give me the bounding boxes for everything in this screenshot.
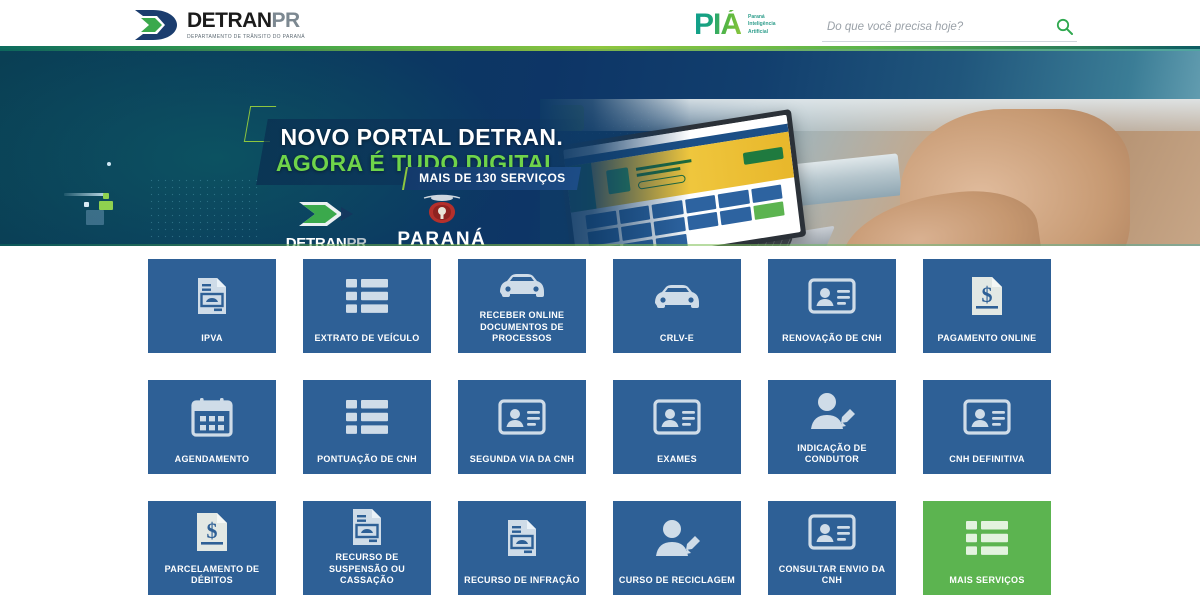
services-grid: IPVA EXTRATO DE VEÍCULO RECEBER ONLINE D… xyxy=(148,259,1052,595)
id-card-icon xyxy=(653,399,701,435)
svg-text:$: $ xyxy=(982,282,993,307)
calendar-icon xyxy=(148,380,276,454)
banner-top-accent-line xyxy=(0,49,1200,51)
service-tile[interactable]: CONSULTAR ENVIO DA CNH xyxy=(768,501,896,595)
service-tile-label: PARCELAMENTO DE DÉBITOS xyxy=(148,564,276,587)
service-tile[interactable]: RECURSO DE INFRAÇÃO xyxy=(458,501,586,595)
banner-parana-logo: PARANÁ GOVERNO DO ESTADO xyxy=(397,194,486,246)
person-edit-icon xyxy=(613,501,741,575)
calendar-icon xyxy=(191,397,233,437)
site-header: DETRANPR DEPARTAMENTO DE TRÂNSITO DO PAR… xyxy=(0,0,1200,49)
service-tile[interactable]: EXTRATO DE VEÍCULO xyxy=(303,259,431,353)
list-icon xyxy=(303,259,431,333)
banner-decor-box xyxy=(86,210,104,225)
search-bar[interactable] xyxy=(822,16,1077,42)
banner-decor-dot xyxy=(107,162,111,166)
list-icon xyxy=(345,277,389,315)
service-tile-label: CRLV-E xyxy=(656,333,698,344)
person-edit-icon xyxy=(653,518,701,558)
list-icon xyxy=(923,501,1051,575)
banner-photo xyxy=(540,99,1200,246)
banner-decor-green-dot xyxy=(103,193,109,199)
service-tile-label: PONTUAÇÃO DE CNH xyxy=(313,454,421,465)
id-card-icon xyxy=(808,514,856,550)
id-card-icon xyxy=(808,278,856,314)
service-tile[interactable]: $ PARCELAMENTO DE DÉBITOS xyxy=(148,501,276,595)
document-vehicle-icon xyxy=(303,501,431,552)
list-icon xyxy=(965,519,1009,557)
service-tile-label: RENOVAÇÃO DE CNH xyxy=(778,333,886,344)
service-tile[interactable]: $ PAGAMENTO ONLINE xyxy=(923,259,1051,353)
logo-tagline: DEPARTAMENTO DE TRÂNSITO DO PARANÁ xyxy=(187,34,305,40)
car-icon xyxy=(458,259,586,310)
service-tile-label: RECEBER ONLINE DOCUMENTOS DE PROCESSOS xyxy=(458,310,586,344)
pia-subtitle-line2: Inteligência xyxy=(748,21,776,29)
pia-wordmark: PIÁ xyxy=(694,10,741,40)
banner-dot-grid-left xyxy=(148,177,258,242)
service-tile-label: SEGUNDA VIA DA CNH xyxy=(466,454,578,465)
id-card-icon xyxy=(963,399,1011,435)
service-tile-label: RECURSO DE SUSPENSÃO OU CASSAÇÃO xyxy=(303,552,431,586)
service-tile-label: MAIS SERVIÇOS xyxy=(945,575,1028,586)
pia-subtitle-line1: Paraná xyxy=(748,14,776,22)
banner-decor-green-block xyxy=(99,201,113,210)
service-tile[interactable]: RENOVAÇÃO DE CNH xyxy=(768,259,896,353)
search-input[interactable] xyxy=(822,21,1037,37)
service-tile[interactable]: INDICAÇÃO DE CONDUTOR xyxy=(768,380,896,474)
services-section: IPVA EXTRATO DE VEÍCULO RECEBER ONLINE D… xyxy=(0,246,1200,595)
person-edit-icon xyxy=(768,380,896,443)
id-card-icon xyxy=(768,501,896,564)
service-tile-label: INDICAÇÃO DE CONDUTOR xyxy=(768,443,896,466)
service-tile[interactable]: RECURSO DE SUSPENSÃO OU CASSAÇÃO xyxy=(303,501,431,595)
service-tile[interactable]: CRLV-E xyxy=(613,259,741,353)
hero-banner: NOVO PORTAL DETRAN. AGORA É TUDO DIGITAL… xyxy=(0,49,1200,246)
svg-text:$: $ xyxy=(207,518,218,543)
banner-headline-line1: NOVO PORTAL DETRAN. xyxy=(280,125,570,151)
service-tile-label: PAGAMENTO ONLINE xyxy=(934,333,1041,344)
service-tile[interactable]: SEGUNDA VIA DA CNH xyxy=(458,380,586,474)
id-card-icon xyxy=(498,399,546,435)
document-vehicle-icon xyxy=(501,517,543,559)
dollar-document-icon: $ xyxy=(193,511,231,553)
pia-subtitle: Paraná Inteligência Artificial xyxy=(748,14,776,37)
service-tile-label: EXAMES xyxy=(653,454,701,465)
service-tile-label: CONSULTAR ENVIO DA CNH xyxy=(768,564,896,587)
id-card-icon xyxy=(768,259,896,333)
service-tile[interactable]: EXAMES xyxy=(613,380,741,474)
detran-logo[interactable]: DETRANPR DEPARTAMENTO DE TRÂNSITO DO PAR… xyxy=(133,8,305,42)
id-card-icon xyxy=(458,380,586,454)
service-tile-label: CURSO DE RECICLAGEM xyxy=(615,575,739,586)
logo-name-suffix: PR xyxy=(272,9,300,32)
service-tile-label: AGENDAMENTO xyxy=(171,454,254,465)
banner-services-badge-label: MAIS DE 130 SERVIÇOS xyxy=(419,171,566,185)
service-tile[interactable]: RECEBER ONLINE DOCUMENTOS DE PROCESSOS xyxy=(458,259,586,353)
search-button[interactable] xyxy=(1056,18,1077,39)
banner-services-badge: MAIS DE 130 SERVIÇOS xyxy=(402,167,581,190)
service-tile[interactable]: PONTUAÇÃO DE CNH xyxy=(303,380,431,474)
detran-arrow-icon xyxy=(133,8,179,42)
dollar-document-icon: $ xyxy=(968,275,1006,317)
document-vehicle-icon xyxy=(346,506,388,548)
document-vehicle-icon xyxy=(148,259,276,333)
pia-subtitle-line3: Artificial xyxy=(748,29,776,37)
id-card-icon xyxy=(923,380,1051,454)
logo-name-main: DETRAN xyxy=(187,9,272,32)
list-icon xyxy=(303,380,431,454)
banner-decor-bar xyxy=(64,193,106,196)
service-tile[interactable]: IPVA xyxy=(148,259,276,353)
dollar-document-icon: $ xyxy=(923,259,1051,333)
search-icon xyxy=(1056,23,1073,38)
car-icon xyxy=(613,259,741,333)
service-tile[interactable]: MAIS SERVIÇOS xyxy=(923,501,1051,595)
service-tile-label: CNH DEFINITIVA xyxy=(945,454,1029,465)
pia-logo[interactable]: PIÁ Paraná Inteligência Artificial xyxy=(694,10,776,40)
id-card-icon xyxy=(613,380,741,454)
car-icon xyxy=(496,270,548,300)
parana-coat-of-arms-icon xyxy=(421,194,463,229)
person-edit-icon xyxy=(808,391,856,431)
service-tile[interactable]: CURSO DE RECICLAGEM xyxy=(613,501,741,595)
service-tile[interactable]: AGENDAMENTO xyxy=(148,380,276,474)
service-tile[interactable]: CNH DEFINITIVA xyxy=(923,380,1051,474)
list-icon xyxy=(345,398,389,436)
detran-arrow-icon xyxy=(297,199,355,234)
service-tile-label: EXTRATO DE VEÍCULO xyxy=(310,333,423,344)
document-vehicle-icon xyxy=(191,275,233,317)
document-vehicle-icon xyxy=(458,501,586,575)
dollar-document-icon: $ xyxy=(148,501,276,564)
service-tile-label: IPVA xyxy=(197,333,227,344)
car-icon xyxy=(651,281,703,311)
banner-decor-small-square xyxy=(84,202,89,207)
banner-detran-logo: DETRANPR DEPARTAMENTO DE TRÂNSITO DO PAR… xyxy=(283,199,369,246)
service-tile-label: RECURSO DE INFRAÇÃO xyxy=(460,575,584,586)
banner-logos: DETRANPR DEPARTAMENTO DE TRÂNSITO DO PAR… xyxy=(283,194,486,246)
